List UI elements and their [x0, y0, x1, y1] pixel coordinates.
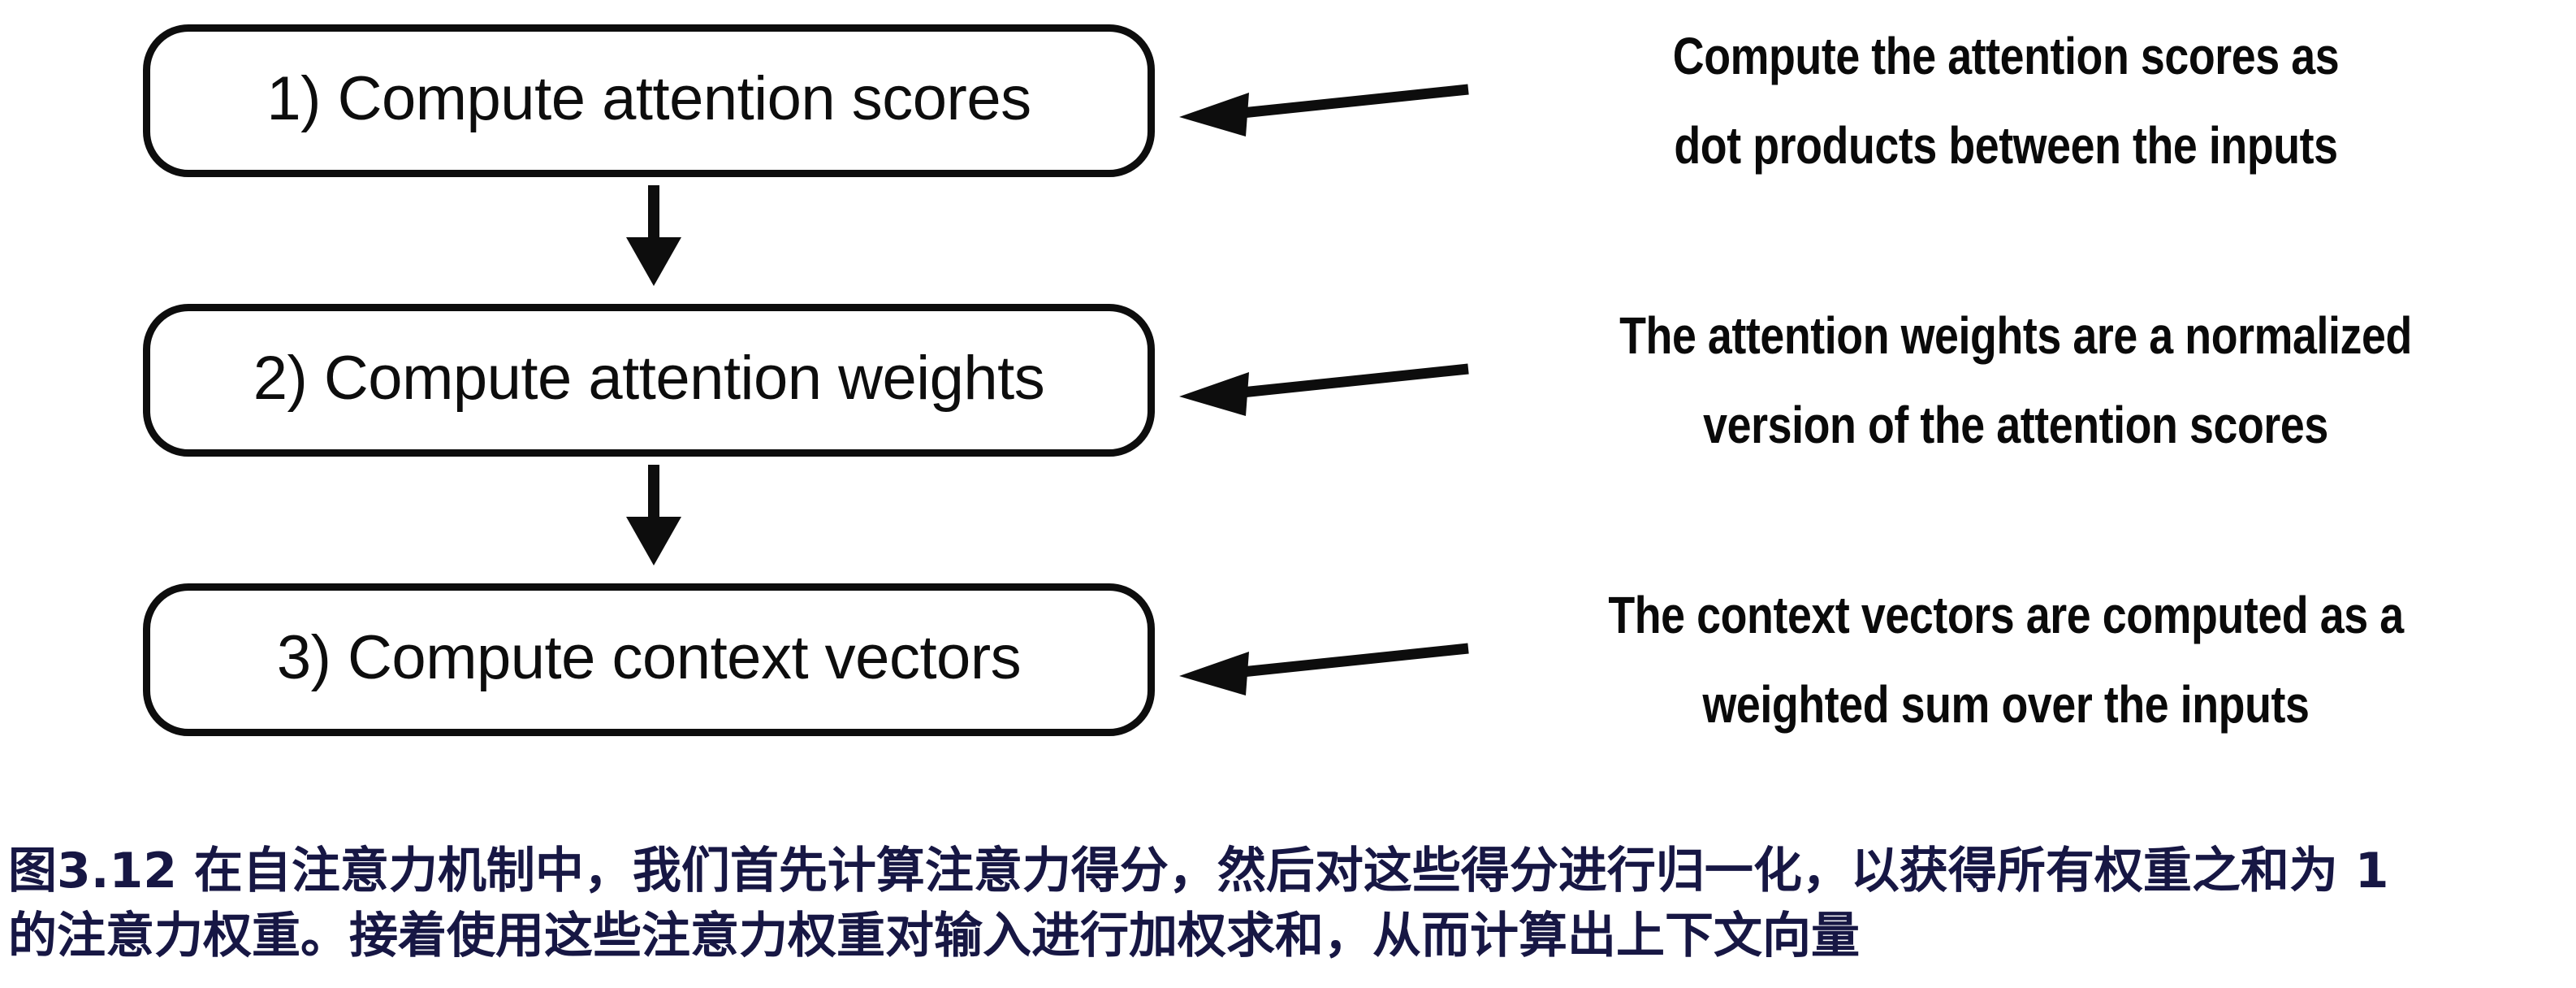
annotation-3-line-1: The context vectors are computed as a [1549, 570, 2463, 660]
callout-arrow-icon-3 [1171, 634, 1480, 731]
annotation-text-2: The attention weights are a normalized v… [1558, 291, 2473, 470]
flow-step-label-1: 1) Compute attention scores [266, 68, 1031, 130]
flow-step-box-1: 1) Compute attention scores [143, 24, 1155, 177]
flow-step-box-3: 3) Compute context vectors [143, 583, 1155, 736]
annotation-text-1: Compute the attention scores as dot prod… [1549, 11, 2463, 190]
annotation-3-line-2: weighted sum over the inputs [1549, 660, 2463, 749]
callout-arrow-icon-1 [1171, 75, 1480, 172]
annotation-text-3: The context vectors are computed as a we… [1549, 570, 2463, 749]
caption-line-2: 的注意力权重。接着使用这些注意力权重对输入进行加权求和，从而计算出上下文向量 [8, 903, 2566, 968]
flow-step-box-2: 2) Compute attention weights [143, 304, 1155, 457]
caption-line-1: 图3.12 在自注意力机制中，我们首先计算注意力得分，然后对这些得分进行归一化，… [8, 838, 2566, 903]
annotation-1-line-1: Compute the attention scores as [1549, 11, 2463, 101]
flow-step-label-3: 3) Compute context vectors [277, 627, 1021, 689]
annotation-1-line-2: dot products between the inputs [1549, 101, 2463, 190]
figure-caption: 图3.12 在自注意力机制中，我们首先计算注意力得分，然后对这些得分进行归一化，… [8, 838, 2566, 969]
down-arrow-icon-step2-step3 [605, 465, 702, 569]
annotation-2-line-1: The attention weights are a normalized [1558, 291, 2473, 380]
flow-step-label-2: 2) Compute attention weights [253, 348, 1045, 409]
callout-arrow-icon-2 [1171, 354, 1480, 452]
annotation-2-line-2: version of the attention scores [1558, 380, 2473, 470]
figure-canvas: 1) Compute attention scores 2) Compute a… [0, 0, 2576, 988]
down-arrow-icon-step1-step2 [605, 185, 702, 289]
